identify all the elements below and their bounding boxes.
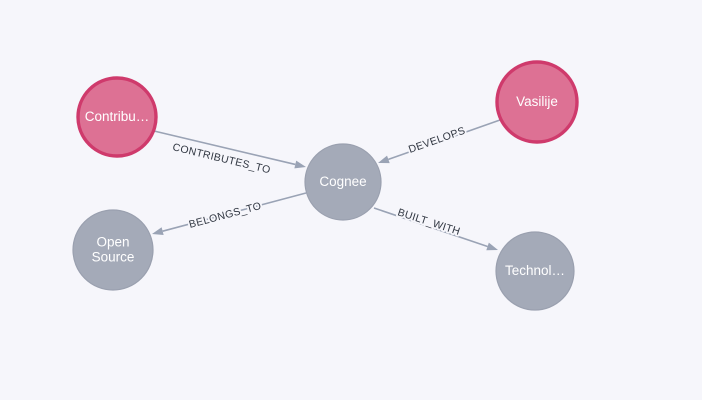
- edge-develops-label: DEVELOPSDEVELOPS: [407, 125, 467, 156]
- edge-arrowhead-icon: [378, 156, 390, 164]
- node-label-line: Open: [96, 234, 129, 249]
- node-label-line: Cognee: [319, 174, 366, 189]
- edge-label-text: DEVELOPS: [407, 125, 467, 156]
- node-label-cognee: Cognee: [319, 174, 366, 189]
- graph-visualization[interactable]: CONTRIBUTES_TOCONTRIBUTES_TODEVELOPSDEVE…: [0, 0, 702, 400]
- graph-canvas[interactable]: CONTRIBUTES_TOCONTRIBUTES_TODEVELOPSDEVE…: [0, 0, 702, 400]
- edge-built-with-label: BUILT_WITHBUILT_WITH: [396, 206, 462, 238]
- node-label-line: Technol…: [505, 263, 565, 278]
- edge-arrowhead-icon: [152, 227, 164, 235]
- node-label-line: Vasilije: [516, 94, 558, 109]
- edge-arrowhead-icon: [486, 243, 498, 251]
- edge-label-text: BELONGS_TO: [188, 200, 263, 231]
- node-label-line: Source: [92, 249, 135, 264]
- edge-arrowhead-icon: [294, 161, 306, 169]
- node-label-open-source: OpenSource: [92, 234, 135, 264]
- node-label-vasilije: Vasilije: [516, 94, 558, 109]
- node-label-technology: Technol…: [505, 263, 565, 278]
- edge-belongs-to-label: BELONGS_TOBELONGS_TO: [188, 200, 263, 231]
- node-label-contributors: Contribu…: [85, 109, 150, 124]
- node-label-line: Contribu…: [85, 109, 150, 124]
- edge-label-text: BUILT_WITH: [396, 206, 462, 238]
